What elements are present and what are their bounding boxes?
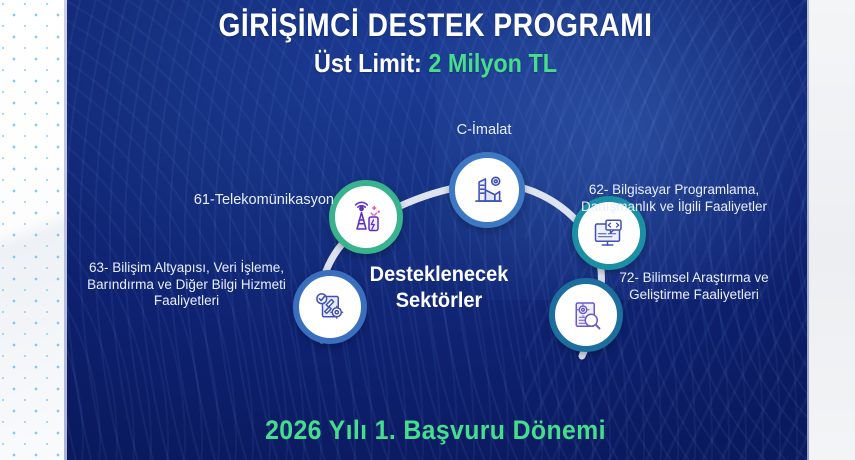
dot-grid-pattern (0, 0, 64, 460)
research-icon (568, 297, 604, 333)
sectors-diagram: Desteklenecek Sektörler C-İmalat 61-Tele… (64, 110, 809, 410)
diagram-center-label: Desteklenecek Sektörler (339, 262, 539, 313)
monitor-code-icon (591, 215, 627, 251)
center-label-line1: Desteklenecek (339, 262, 539, 288)
center-label-line2: Sektörler (339, 288, 539, 314)
label-bilisim-altyapisi: 63- Bilişim Altyapısı, Veri İşleme, Barı… (74, 260, 299, 310)
left-decorative-panel (0, 0, 64, 460)
factory-icon (468, 171, 506, 209)
label-bilimsel-arastirma: 72- Bilimsel Araştırma ve Geliştirme Faa… (604, 270, 784, 303)
label-imalat: C-İmalat (364, 122, 604, 140)
page-title: GİRİŞİMCİ DESTEK PROGRAMI (109, 8, 763, 43)
label-bilgisayar-programlama: 62- Bilgisayar Programlama, Danışmanlık … (569, 182, 779, 215)
node-telekomunikasyon[interactable] (329, 180, 403, 254)
antenna-icon (348, 199, 384, 235)
subtitle-amount: 2 Milyon TL (428, 48, 557, 78)
subtitle: Üst Limit: 2 Milyon TL (101, 49, 770, 78)
node-imalat[interactable] (449, 152, 525, 228)
subtitle-prefix: Üst Limit: (314, 48, 428, 78)
right-decorative-panel (809, 0, 855, 460)
header-block: GİRİŞİMCİ DESTEK PROGRAMI Üst Limit: 2 M… (64, 8, 807, 77)
application-period-text: 2026 Yılı 1. Başvuru Dönemi (94, 415, 778, 446)
footer-block: 2026 Yılı 1. Başvuru Dönemi (64, 415, 807, 446)
poster-canvas: GİRİŞİMCİ DESTEK PROGRAMI Üst Limit: 2 M… (0, 0, 855, 460)
label-telekomunikasyon: 61-Telekomünikasyon (94, 192, 334, 210)
